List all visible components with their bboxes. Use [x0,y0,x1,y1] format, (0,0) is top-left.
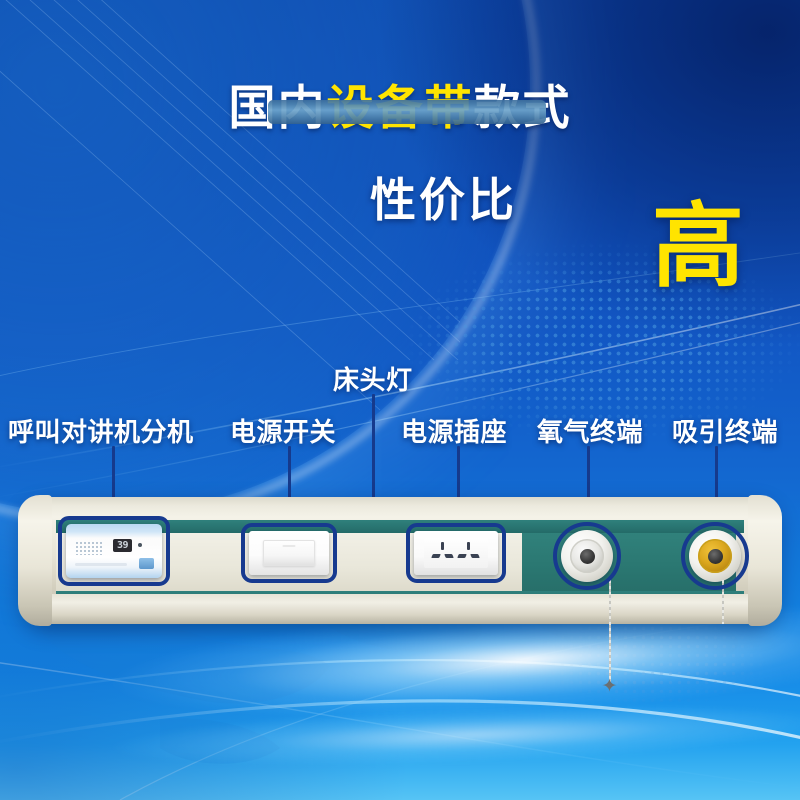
callout-oxygen-terminal: 氧气终端 [537,412,643,449]
bed-light-diffuser [268,100,546,124]
headline-subline-block: 性价比 高 [0,66,800,186]
callout-nurse-call-intercom: 呼叫对讲机分机 [8,412,194,449]
callout-power-switch: 电源开关 [230,412,336,449]
callout-power-socket: 电源插座 [401,412,507,449]
highlight-box-intercom [58,516,170,586]
callout-suction-terminal: 吸引终端 [672,412,778,449]
callout-bed-light: 床头灯 [333,360,413,397]
highlight-circle-oxygen [553,522,621,590]
unit-lower-fascia [28,594,772,624]
highlight-box-socket [406,523,506,583]
oxygen-hose-cord [609,580,611,682]
highlight-box-switch [241,523,337,583]
unit-end-cap-right [748,495,782,626]
cord-weight-icon: ✦ [601,678,618,695]
promotional-banner: 国内设备带款式 性价比 高 呼叫对讲机分机 电源开关 床头灯 电源插座 氧气终端… [0,0,800,800]
headline-emphasis-gao: 高 [652,204,744,291]
highlight-circle-suction [681,522,749,590]
headline-line-2: 性价比 [370,164,517,230]
unit-end-cap-left [18,495,52,626]
